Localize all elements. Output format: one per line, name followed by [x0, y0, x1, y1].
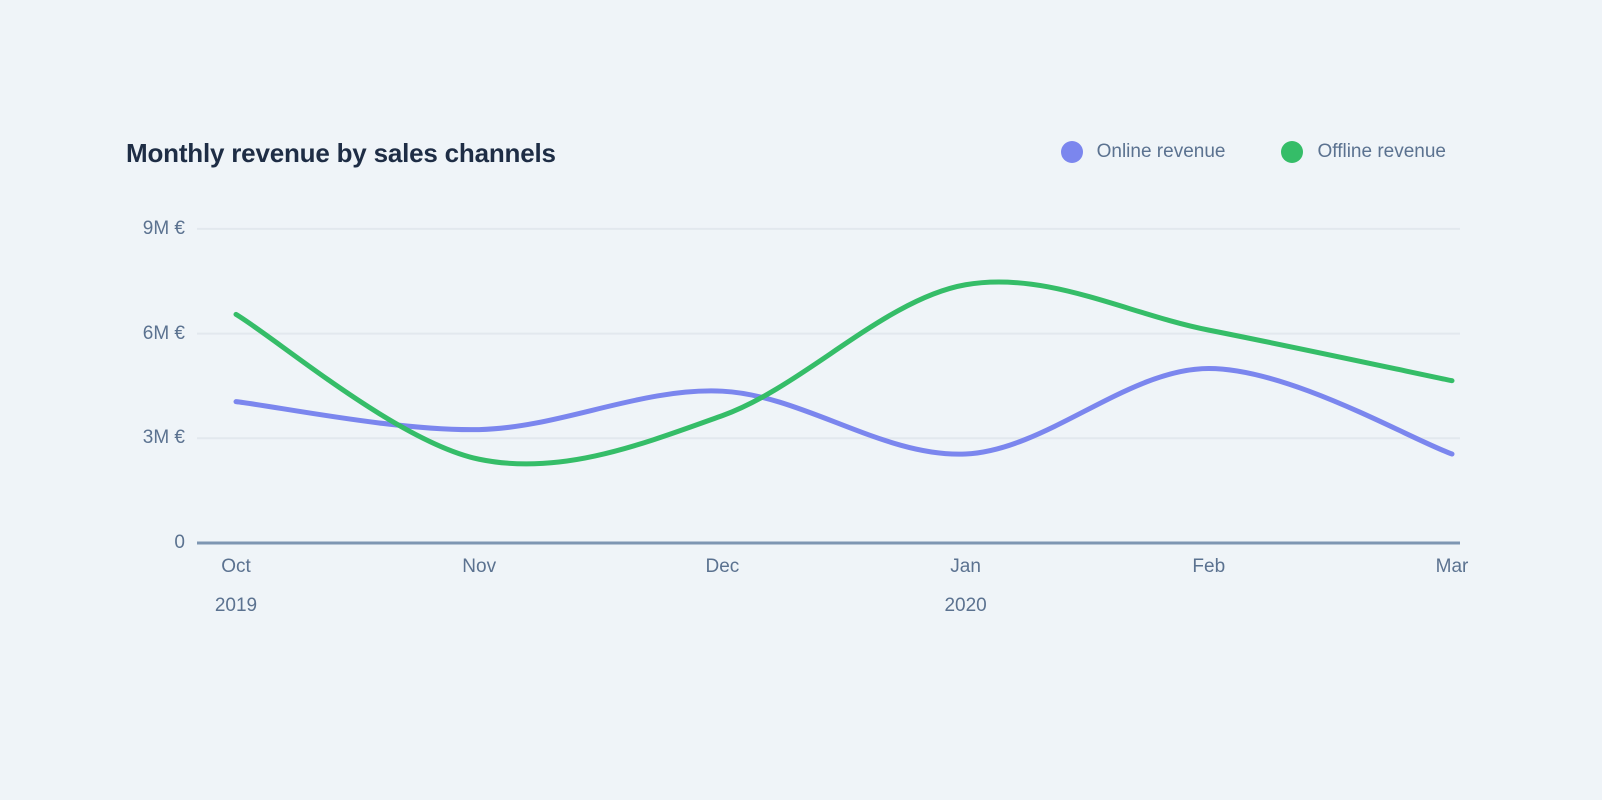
- x-tick-label: Feb: [1192, 556, 1225, 578]
- x-tick-label: Mar: [1436, 556, 1469, 578]
- x-tick-year-label: 2020: [944, 595, 986, 617]
- x-tick-label: Dec: [705, 556, 739, 578]
- series-line-online[interactable]: [236, 369, 1452, 455]
- series-line-offline[interactable]: [236, 282, 1452, 464]
- y-tick-label: 0: [174, 532, 185, 554]
- x-tick-year-label: 2019: [215, 595, 257, 617]
- x-tick-label: Nov: [462, 556, 496, 578]
- x-tick-label: Oct: [221, 556, 251, 578]
- y-tick-label: 6M €: [143, 323, 185, 345]
- y-tick-label: 3M €: [143, 427, 185, 449]
- y-tick-label: 9M €: [143, 218, 185, 240]
- series-lines: [236, 282, 1452, 464]
- plot-area: 9M €6M €3M €0 Oct2019NovDecJan2020FebMar: [0, 0, 1602, 800]
- gridlines: [197, 229, 1460, 438]
- revenue-chart-card: Monthly revenue by sales channels Online…: [0, 0, 1602, 800]
- chart-canvas: [0, 0, 1602, 800]
- x-tick-label: Jan: [950, 556, 981, 578]
